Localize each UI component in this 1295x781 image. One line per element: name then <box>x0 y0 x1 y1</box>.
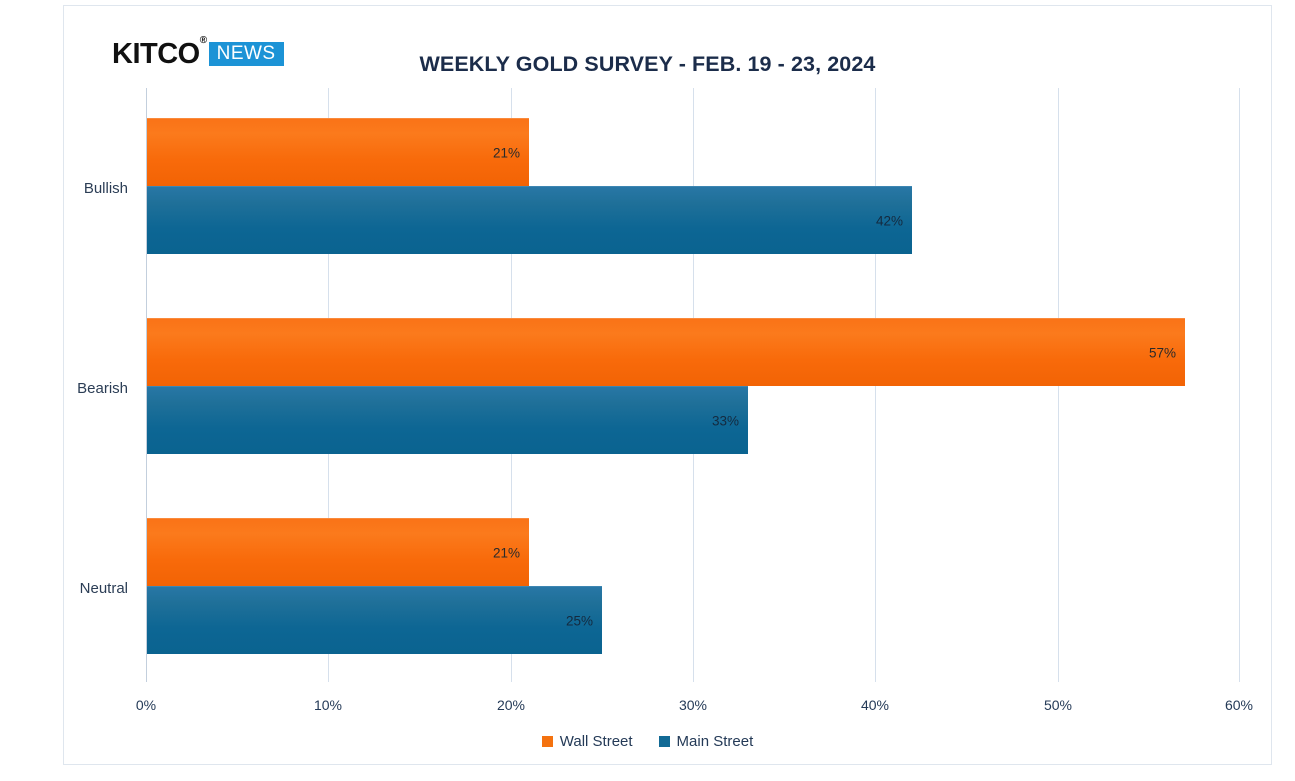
bar-bullish-wall-street[interactable]: 21% <box>146 118 529 186</box>
bar-bearish-main-street[interactable]: 33% <box>146 386 748 454</box>
x-tick-40: 40% <box>861 697 889 713</box>
bar-row-bullish-main-street: 42% <box>146 186 1240 254</box>
legend-item-main-street[interactable]: Main Street <box>659 733 754 750</box>
bar-value-label: 25% <box>566 613 593 628</box>
x-axis-tick-labels: 0% 10% 20% 30% 40% 50% 60% <box>146 697 1240 717</box>
bar-neutral-main-street[interactable]: 25% <box>146 586 602 654</box>
bar-row-bullish-wall-street: 21% <box>146 118 1240 186</box>
registered-trademark-icon: ® <box>200 35 207 46</box>
bar-group-neutral: 21% 25% <box>146 518 1240 654</box>
x-tick-20: 20% <box>497 697 525 713</box>
y-axis-line <box>146 88 147 682</box>
bar-row-bearish-main-street: 33% <box>146 386 1240 454</box>
y-axis-category-labels: Bullish Bearish Neutral <box>0 88 146 682</box>
bar-value-label: 21% <box>493 545 520 560</box>
bar-value-label: 42% <box>876 213 903 228</box>
bar-value-label: 33% <box>712 413 739 428</box>
bar-row-neutral-wall-street: 21% <box>146 518 1240 586</box>
legend-label-main-street: Main Street <box>677 733 754 750</box>
chart-legend: Wall Street Main Street <box>0 733 1295 750</box>
legend-swatch-icon-wall-street <box>542 736 553 747</box>
category-label-bullish: Bullish <box>84 180 128 197</box>
bar-row-bearish-wall-street: 57% <box>146 318 1240 386</box>
x-tick-30: 30% <box>679 697 707 713</box>
x-tick-10: 10% <box>314 697 342 713</box>
bar-value-label: 21% <box>493 145 520 160</box>
chart-title: WEEKLY GOLD SURVEY - FEB. 19 - 23, 2024 <box>0 52 1295 77</box>
x-tick-0: 0% <box>136 697 156 713</box>
legend-item-wall-street[interactable]: Wall Street <box>542 733 633 750</box>
legend-label-wall-street: Wall Street <box>560 733 633 750</box>
x-tick-50: 50% <box>1044 697 1072 713</box>
bar-value-label: 57% <box>1149 345 1176 360</box>
legend-swatch-icon-main-street <box>659 736 670 747</box>
bar-group-bullish: 21% 42% <box>146 118 1240 254</box>
bar-bearish-wall-street[interactable]: 57% <box>146 318 1185 386</box>
category-label-bearish: Bearish <box>77 380 128 397</box>
category-label-neutral: Neutral <box>80 580 128 597</box>
x-tick-60: 60% <box>1225 697 1253 713</box>
bar-group-bearish: 57% 33% <box>146 318 1240 454</box>
plot-area: 21% 42% 57% 33% 21% <box>146 88 1240 682</box>
bar-bullish-main-street[interactable]: 42% <box>146 186 912 254</box>
bar-row-neutral-main-street: 25% <box>146 586 1240 654</box>
bar-neutral-wall-street[interactable]: 21% <box>146 518 529 586</box>
